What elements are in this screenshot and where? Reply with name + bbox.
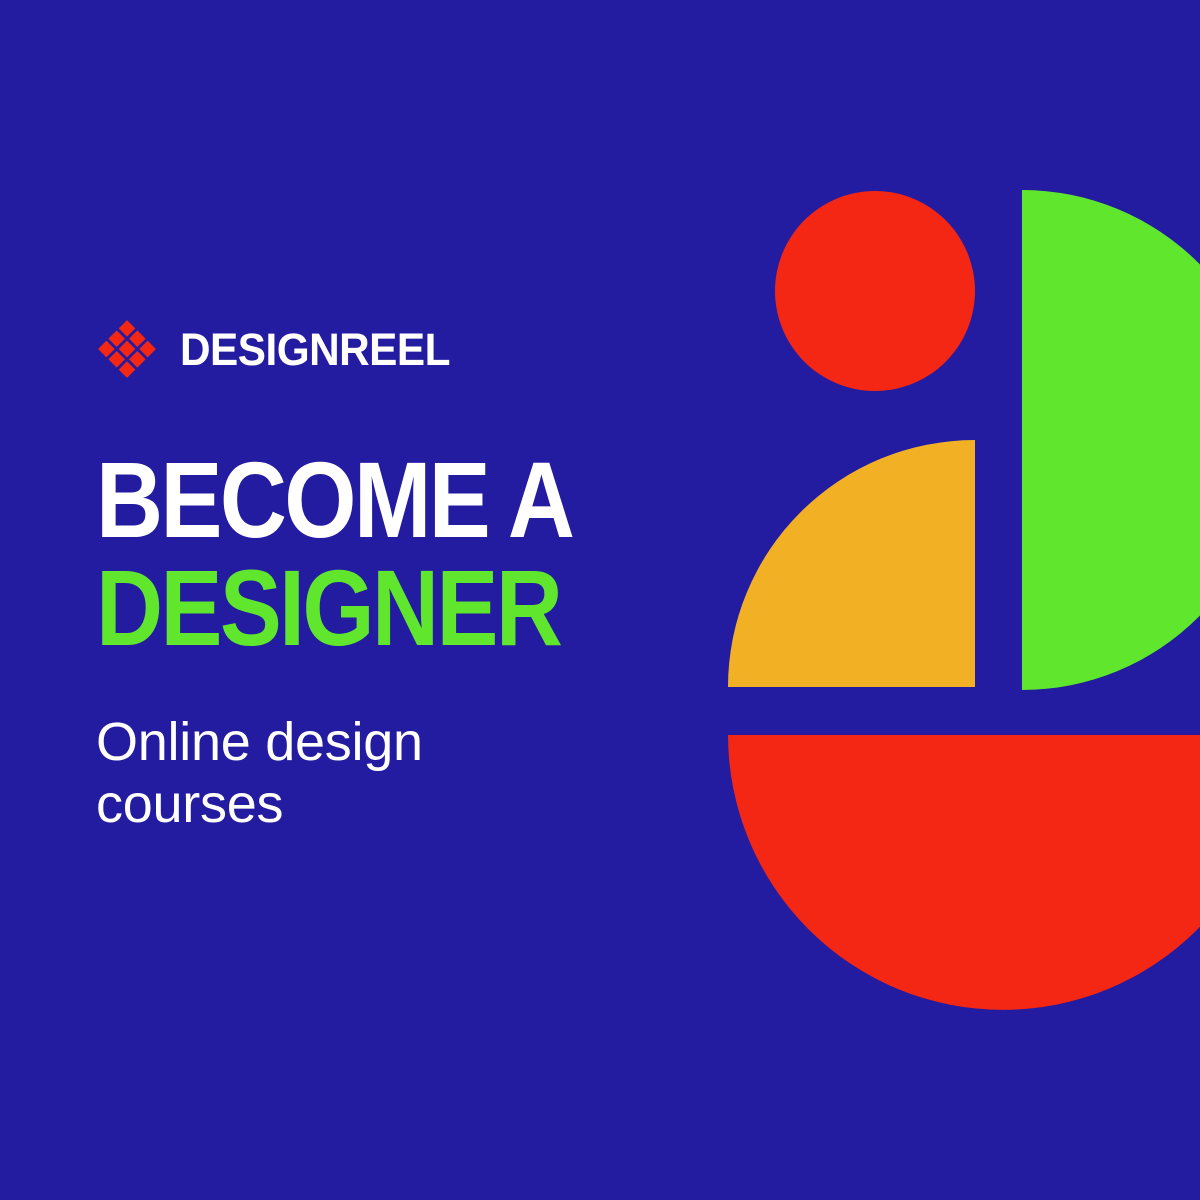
red-half-circle-shape [728, 735, 1200, 1010]
headline: BECOME A DESIGNER [96, 448, 696, 659]
promo-poster: DESIGNREEL BECOME A DESIGNER Online desi… [0, 0, 1200, 1200]
subheadline-line-1: Online design [96, 712, 656, 774]
diamond-grid-logo-icon [96, 318, 158, 380]
subheadline-line-2: courses [96, 774, 656, 836]
brand-name: DESIGNREEL [180, 327, 450, 372]
orange-quarter-circle-shape [728, 440, 975, 687]
green-half-circle-shape [1022, 190, 1200, 690]
subheadline: Online design courses [96, 712, 656, 835]
brand-lockup[interactable]: DESIGNREEL [96, 318, 467, 380]
headline-line-1: BECOME A [96, 448, 612, 552]
headline-line-2: DESIGNER [96, 556, 612, 660]
red-circle-shape [775, 191, 975, 391]
